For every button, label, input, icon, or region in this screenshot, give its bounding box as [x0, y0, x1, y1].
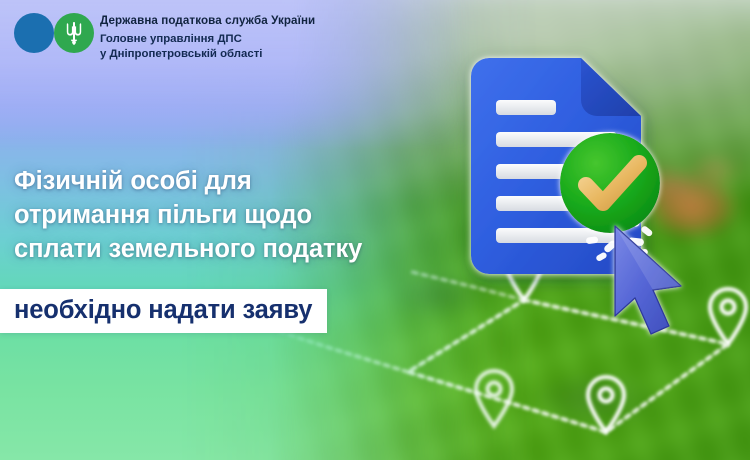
dps-logo-green-circle [54, 13, 94, 53]
organization-name-block: Державна податкова служба України Головн… [94, 13, 315, 61]
poster-canvas: Державна податкова служба України Головн… [0, 0, 750, 460]
dps-logo-blue-circle [14, 13, 54, 53]
organization-subtitle-line-1: Головне управління ДПС [100, 32, 315, 47]
headline-line-1: Фізичній особі для [14, 164, 454, 198]
cta-highlight-box: необхідно надати заяву [0, 289, 327, 333]
headline-line-2: отримання пільги щодо [14, 198, 454, 232]
organization-subtitle: Головне управління ДПС у Дніпропетровськ… [100, 32, 315, 61]
dps-logo [14, 13, 94, 55]
organization-subtitle-line-2: у Дніпропетровській області [100, 47, 315, 62]
organization-header: Державна податкова служба України Головн… [0, 0, 315, 61]
headline-block: Фізичній особі для отримання пільги щодо… [14, 164, 454, 266]
ukraine-trident-emblem [64, 20, 84, 46]
headline-line-3: сплати земельного податку [14, 232, 454, 266]
cta-text: необхідно надати заяву [14, 294, 312, 327]
organization-title: Державна податкова служба України [100, 14, 315, 27]
